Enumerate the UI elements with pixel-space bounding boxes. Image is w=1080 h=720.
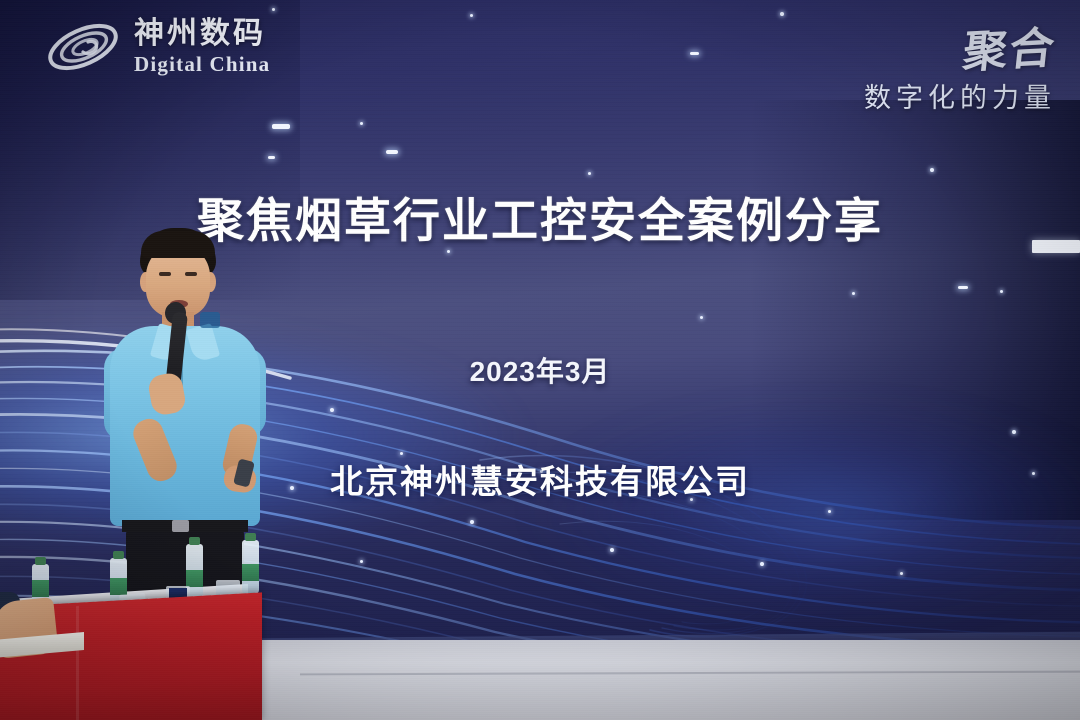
- bottle-cap: [245, 533, 256, 541]
- bottle-cap: [113, 551, 124, 559]
- bottle-label: [32, 580, 49, 597]
- particle-dot: [588, 172, 591, 175]
- particle-dot: [470, 520, 474, 524]
- particle-dot: [760, 562, 764, 566]
- particle-dot: [360, 560, 363, 563]
- bottle-label: [242, 564, 259, 581]
- bottle-cap: [189, 537, 200, 545]
- bottle-label: [110, 578, 127, 595]
- photo-stage: 神州数码 Digital China 聚合 数字化的力量 聚焦烟草行业工控安全案…: [0, 0, 1080, 720]
- particle-dot: [930, 168, 934, 172]
- digital-china-logo: 神州数码 Digital China: [44, 16, 270, 78]
- particle-dot: [780, 12, 784, 16]
- particle-dot: [470, 14, 473, 17]
- particle-streak: [958, 286, 968, 289]
- event-logo-brush-text: 聚合: [960, 12, 1059, 81]
- table-cloth-fold: [76, 606, 79, 720]
- digital-china-chinese: 神州数码: [134, 19, 270, 49]
- particle-dot: [1012, 430, 1016, 434]
- particle-streak: [690, 52, 699, 55]
- bottle-cap: [35, 557, 46, 565]
- particle-dot: [852, 292, 855, 295]
- particle-dot: [900, 572, 903, 575]
- digital-china-english: Digital China: [134, 54, 270, 75]
- particle-dot: [330, 408, 334, 412]
- bottle-label: [186, 570, 203, 587]
- particle-dot: [828, 510, 831, 513]
- event-logo: 聚合 数字化的力量: [864, 14, 1056, 115]
- speaker-eye-left: [159, 272, 171, 276]
- water-bottle: [242, 540, 259, 594]
- speaker-hair-front: [141, 231, 215, 258]
- particle-streak: [268, 156, 275, 159]
- digital-china-swirl-icon: [44, 16, 122, 78]
- particle-dot: [700, 316, 703, 319]
- speaker-eye-right: [185, 272, 197, 276]
- event-logo-subtitle: 数字化的力量: [864, 76, 1056, 115]
- particle-dot: [610, 548, 614, 552]
- particle-dot: [360, 122, 363, 125]
- speaker-belt-buckle: [172, 520, 189, 532]
- particle-streak: [272, 124, 290, 129]
- particle-streak: [386, 150, 398, 154]
- speaker-shirt-logo: [200, 312, 220, 328]
- particle-dot: [1000, 290, 1003, 293]
- particle-dot: [272, 8, 275, 11]
